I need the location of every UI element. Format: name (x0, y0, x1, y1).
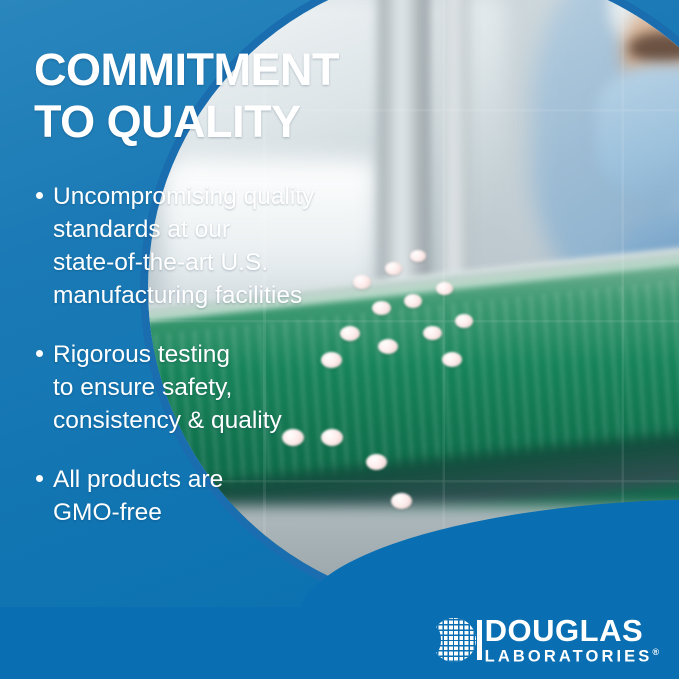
bullet-3-line-2: GMO-free (53, 496, 223, 529)
bullet-1-line-2: standards at our (53, 213, 314, 246)
logo-bar (477, 620, 482, 660)
headline-line-1: COMMITMENT (34, 44, 364, 96)
logo-wordmark: DOUGLAS LABORATORIES® (485, 615, 659, 665)
list-item: All products are GMO-free (34, 463, 354, 529)
douglas-grid-circle-icon (432, 618, 476, 662)
registered-trademark-icon: ® (652, 647, 659, 657)
list-item: Rigorous testing to ensure safety, consi… (34, 338, 354, 437)
bullet-2-line-2: to ensure safety, (53, 371, 282, 404)
bullet-2-line-3: consistency & quality (53, 404, 282, 437)
list-item-text: Uncompromising quality standards at our … (53, 180, 314, 312)
logo-name-bottom-text: LABORATORIES (485, 648, 653, 666)
page-title: COMMITMENT TO QUALITY (34, 44, 364, 148)
commitment-to-quality-poster: COMMITMENT TO QUALITY Uncompromising qua… (0, 0, 679, 679)
bullet-dot-icon (36, 475, 43, 482)
logo-name-bottom: LABORATORIES® (485, 648, 659, 665)
bullet-dot-icon (36, 350, 43, 357)
logo-notch (429, 627, 441, 653)
headline-line-2: TO QUALITY (34, 96, 364, 148)
bullet-3-line-1: All products are (53, 463, 223, 496)
list-item-text: Rigorous testing to ensure safety, consi… (53, 338, 282, 437)
benefits-list: Uncompromising quality standards at our … (34, 180, 354, 555)
bullet-dot-icon (36, 192, 43, 199)
bullet-1-line-4: manufacturing facilities (53, 279, 314, 312)
list-item: Uncompromising quality standards at our … (34, 180, 354, 312)
bullet-1-line-3: state-of-the-art U.S. (53, 246, 314, 279)
bullet-1-line-1: Uncompromising quality (53, 180, 314, 213)
logo-name-top: DOUGLAS (485, 615, 659, 646)
douglas-laboratories-logo: DOUGLAS LABORATORIES® (432, 615, 659, 665)
list-item-text: All products are GMO-free (53, 463, 223, 529)
bullet-2-line-1: Rigorous testing (53, 338, 282, 371)
